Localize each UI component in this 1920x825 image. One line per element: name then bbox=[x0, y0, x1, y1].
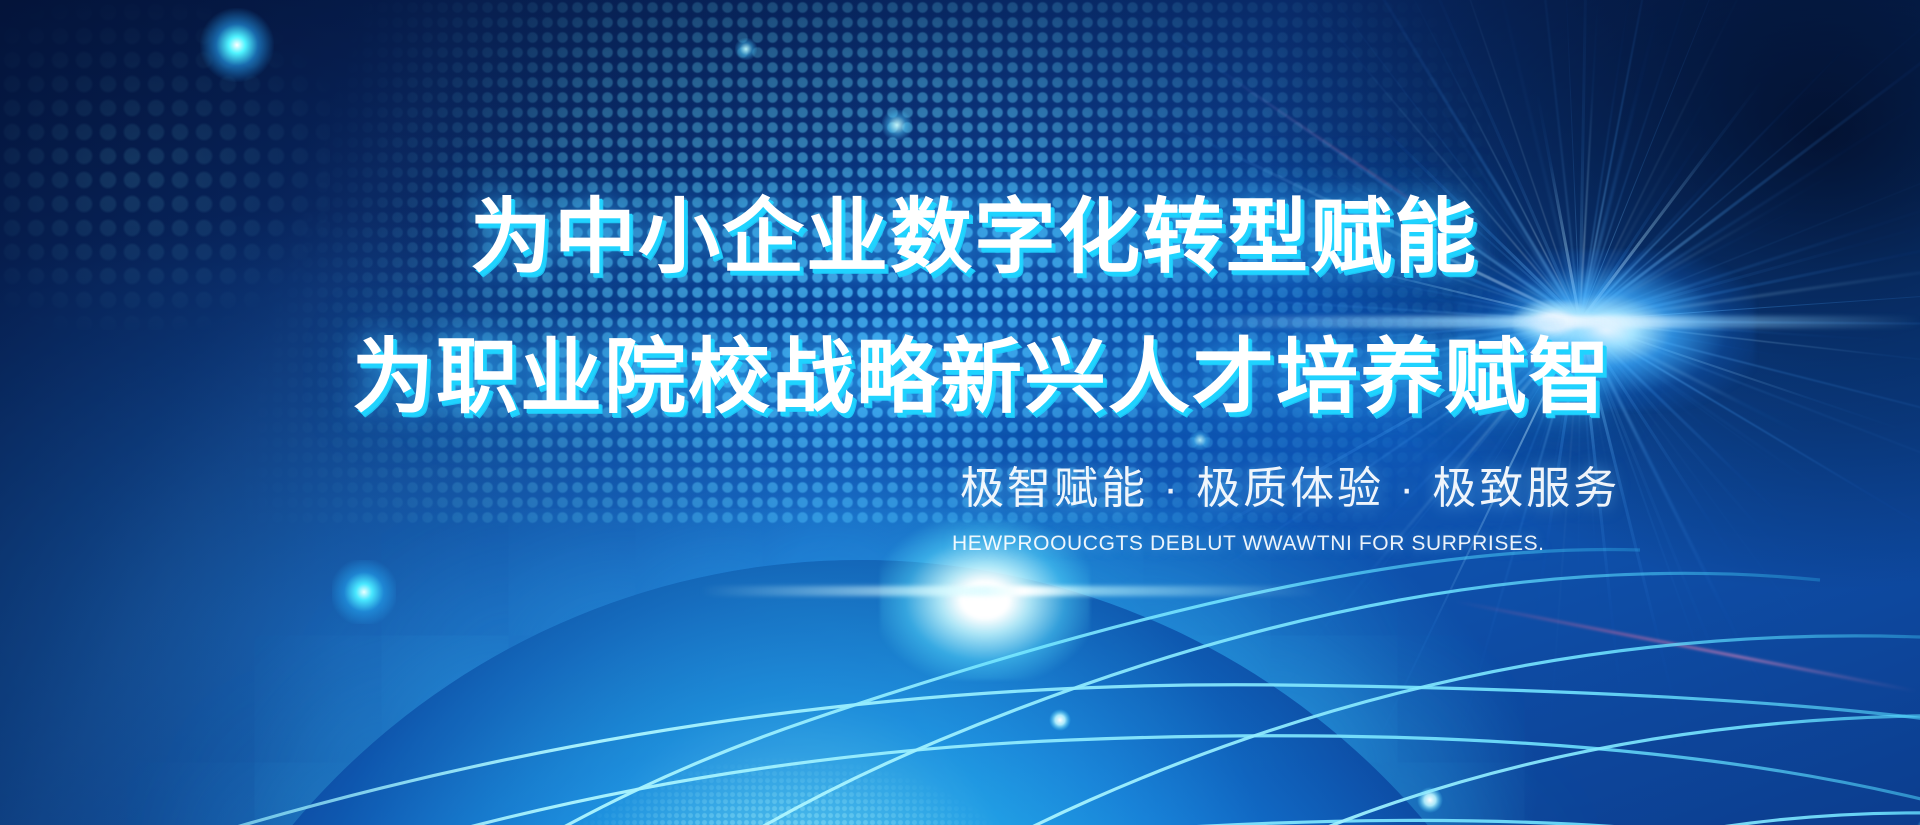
headline-line-2: 为职业院校战略新兴人才培养赋智 bbox=[352, 330, 1612, 426]
banner-content: 为中小企业数字化转型赋能 为职业院校战略新兴人才培养赋智 极智赋能 · 极质体验… bbox=[0, 0, 1920, 825]
subtitle-slogan: 极智赋能 · 极质体验 · 极致服务 bbox=[960, 462, 1620, 516]
headline-line-1: 为中小企业数字化转型赋能 bbox=[470, 190, 1478, 286]
hero-banner: 为中小企业数字化转型赋能 为职业院校战略新兴人才培养赋智 极智赋能 · 极质体验… bbox=[0, 0, 1920, 825]
tagline-english: HEWPROOUCGTS DEBLUT WWAWTNI FOR SURPRISE… bbox=[952, 530, 1545, 558]
